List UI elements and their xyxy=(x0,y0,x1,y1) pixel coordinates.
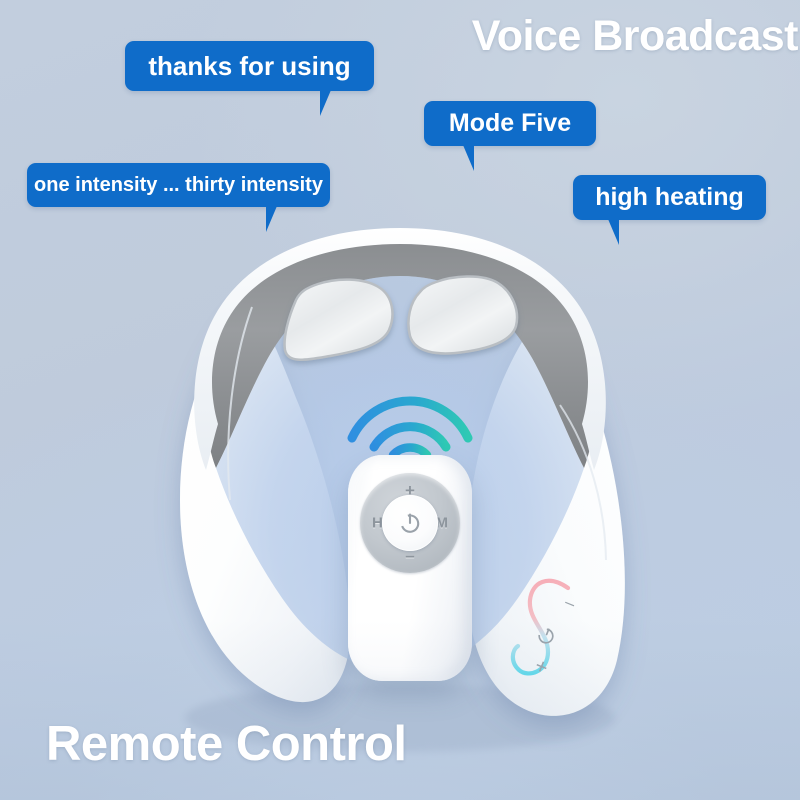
speech-bubble-tail xyxy=(266,206,286,232)
speech-bubble-tail xyxy=(454,145,474,171)
electrode-pad-right xyxy=(408,276,517,353)
speech-bubble-intensity-text: one intensity ... thirty intensity xyxy=(34,174,323,197)
speech-bubble-thanks-text: thanks for using xyxy=(148,51,350,82)
speech-bubble-heating-text: high heating xyxy=(595,183,744,212)
voice-broadcast-title: Voice Broadcast xyxy=(472,12,798,61)
product-image-scene: – + + – H M xyxy=(0,0,800,800)
speech-bubble-tail xyxy=(599,219,619,245)
signal-arc-inner xyxy=(393,447,427,455)
remote-control-pad[interactable]: + – H M xyxy=(360,473,460,573)
speech-bubble-tail xyxy=(320,90,340,116)
speech-bubble-heating: high heating xyxy=(573,175,766,220)
signal-arc-outer xyxy=(352,401,468,438)
speech-bubble-mode-text: Mode Five xyxy=(449,109,571,138)
speech-bubble-mode: Mode Five xyxy=(424,101,596,146)
remote-control-title: Remote Control xyxy=(46,716,407,772)
speech-bubble-intensity: one intensity ... thirty intensity xyxy=(27,163,330,207)
remote-control[interactable]: + – H M xyxy=(348,455,472,681)
wifi-signal-icon xyxy=(336,378,484,464)
power-icon xyxy=(397,510,423,536)
remote-power-button[interactable] xyxy=(382,495,438,551)
speech-bubble-thanks: thanks for using xyxy=(125,41,374,91)
